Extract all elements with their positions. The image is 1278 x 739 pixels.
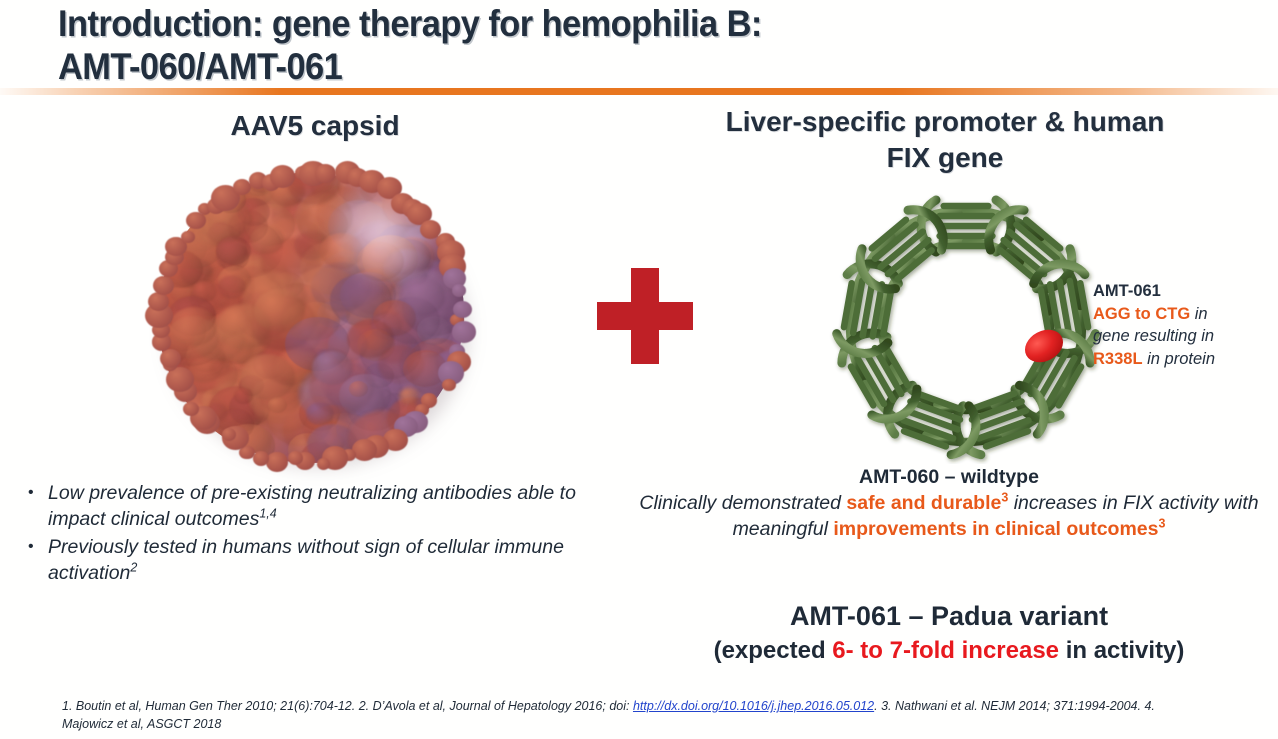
amt-060-body: Clinically demonstrated safe and durable… — [625, 490, 1273, 542]
references-footnote: 1. Boutin et al, Human Gen Ther 2010; 21… — [62, 697, 1162, 733]
citation-superscript: 3 — [1158, 517, 1165, 531]
plus-icon — [597, 268, 693, 364]
plasmid-svg — [828, 188, 1104, 464]
capsid-rim-protrusion — [183, 402, 199, 416]
capsid-protrusion — [218, 275, 246, 299]
amt-061-annotation: AMT-061 AGG to CTG in gene resulting in … — [1093, 280, 1278, 370]
reference-text-part-1: 1. Boutin et al, Human Gen Ther 2010; 21… — [62, 699, 629, 713]
left-bullet-list: • Low prevalence of pre-existing neutral… — [28, 480, 618, 588]
highlight-improvements-clinical-outcomes: improvements in clinical outcomes — [833, 518, 1158, 540]
capsid-rim-protrusion — [315, 164, 336, 183]
list-item: • Low prevalence of pre-existing neutral… — [28, 480, 618, 532]
plasmid-dna-ring-image — [828, 188, 1104, 464]
capsid-rim-protrusion — [442, 379, 456, 392]
capsid-protrusion — [254, 289, 305, 331]
annotation-highlight-r338l: R338L — [1093, 350, 1143, 368]
title-divider-rule — [0, 88, 1278, 95]
padua-title: AMT-061 – Padua variant — [625, 598, 1273, 634]
capsid-protrusion — [234, 388, 253, 404]
aav5-capsid-image — [150, 165, 490, 475]
capsid-protrusion — [349, 381, 368, 397]
slide-canvas: Introduction: gene therapy for hemophili… — [0, 0, 1278, 739]
citation-superscript: 2 — [130, 561, 137, 575]
highlight-safe-and-durable: safe and durable — [846, 492, 1001, 514]
bullet-marker: • — [28, 534, 48, 586]
capsid-rim-protrusion — [181, 231, 194, 243]
doi-link[interactable]: http://dx.doi.org/10.1016/j.jhep.2016.05… — [633, 699, 874, 713]
capsid-protrusion — [312, 351, 353, 385]
capsid-rim-protrusion — [266, 452, 287, 471]
annotation-line-1: AMT-061 — [1093, 280, 1278, 303]
left-column-heading: AAV5 capsid — [120, 108, 510, 144]
annotation-line-4: R338L in protein — [1093, 348, 1278, 371]
amt-060-title: AMT-060 – wildtype — [625, 464, 1273, 490]
capsid-rim-protrusion — [160, 349, 181, 368]
capsid-rim-protrusion — [253, 451, 269, 465]
capsid-rim-protrusion — [153, 276, 174, 295]
right-column-heading: Liver-specific promoter & human FIX gene — [700, 104, 1190, 176]
amt-061-padua-description: AMT-061 – Padua variant (expected 6- to … — [625, 598, 1273, 668]
capsid-rim-protrusion — [453, 301, 473, 319]
annotation-line-2: AGG to CTG in — [1093, 303, 1278, 326]
amt-060-description: AMT-060 – wildtype Clinically demonstrat… — [625, 464, 1273, 542]
padua-subtitle: (expected 6- to 7-fold increase in activ… — [625, 634, 1273, 668]
capsid-rim-protrusion — [288, 451, 303, 465]
page-title: Introduction: gene therapy for hemophili… — [58, 2, 1128, 88]
bullet-marker: • — [28, 480, 48, 532]
dna-base-pair-rung — [863, 281, 873, 335]
bullet-text: Previously tested in humans without sign… — [48, 534, 618, 586]
capsid-protrusion — [347, 319, 394, 358]
capsid-rim-protrusion — [270, 165, 296, 188]
plus-icon-vertical-bar — [631, 268, 659, 364]
highlight-fold-increase: 6- to 7-fold increase — [832, 637, 1059, 664]
annotation-line-3: gene resulting in — [1093, 325, 1278, 348]
capsid-rim-protrusion — [222, 428, 236, 441]
capsid-rim-protrusion — [452, 284, 466, 297]
annotation-highlight-agg-ctg: AGG to CTG — [1093, 305, 1190, 323]
list-item: • Previously tested in humans without si… — [28, 534, 618, 586]
capsid-rim-protrusion — [148, 292, 169, 311]
citation-superscript: 1,4 — [259, 507, 276, 521]
bullet-text: Low prevalence of pre-existing neutraliz… — [48, 480, 618, 532]
capsid-rim-protrusion — [166, 367, 194, 392]
capsid-rim-protrusion — [452, 321, 476, 343]
dna-base-pair-rung — [1060, 281, 1070, 335]
